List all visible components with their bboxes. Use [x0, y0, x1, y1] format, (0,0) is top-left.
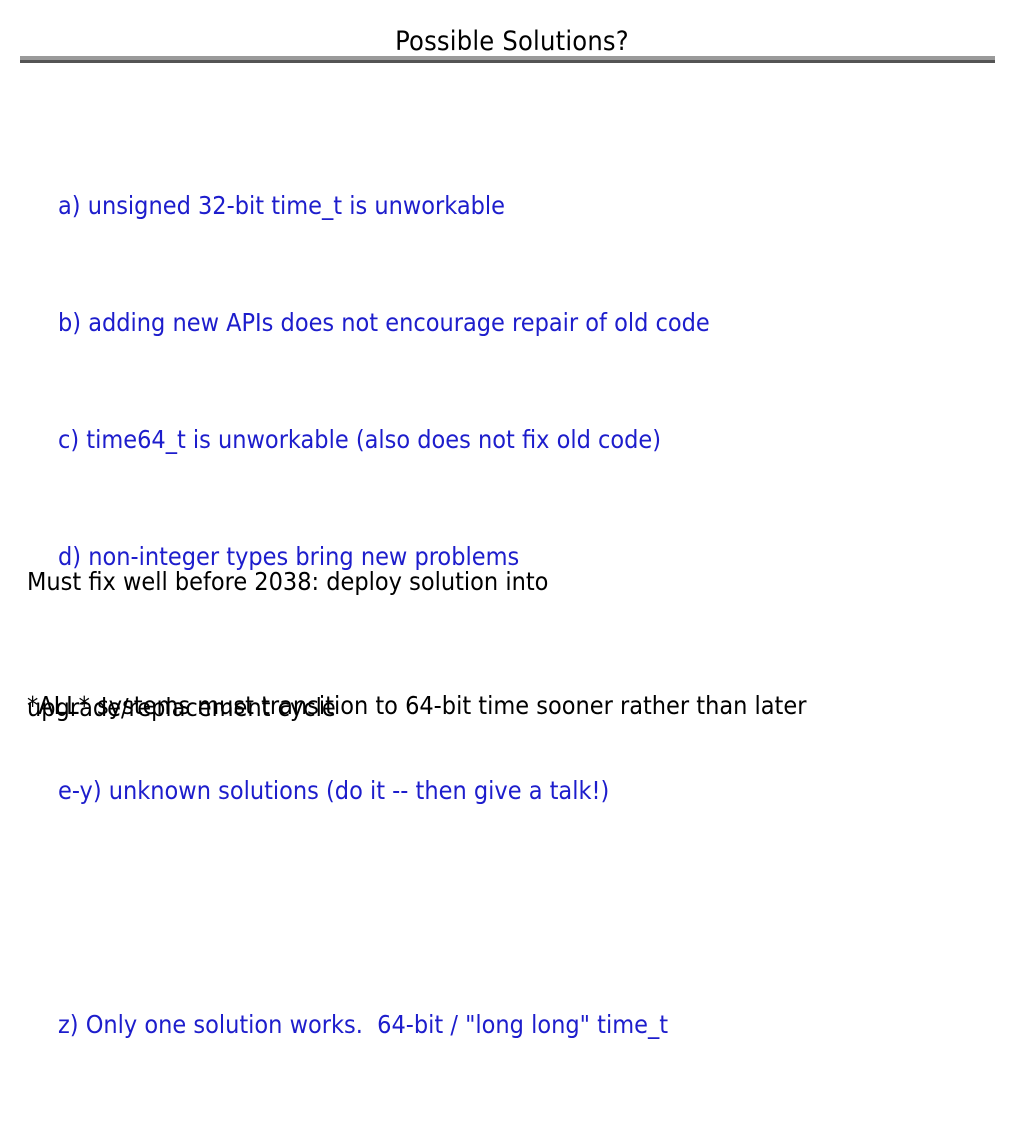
- body-paragraph-2: *ALL* systems must transition to 64-bit …: [27, 601, 1007, 811]
- slide-content: a) unsigned 32-bit time_t is unworkable …: [0, 0, 1024, 768]
- bullet-spacer-2: [58, 888, 958, 927]
- bullet-b: b) adding new APIs does not encourage re…: [58, 303, 958, 342]
- bullet-a: a) unsigned 32-bit time_t is unworkable: [58, 186, 958, 225]
- presentation-slide: Possible Solutions? a) unsigned 32-bit t…: [0, 0, 1024, 768]
- bullet-z: z) Only one solution works. 64-bit / "lo…: [58, 1005, 958, 1044]
- bullet-c: c) time64_t is unworkable (also does not…: [58, 420, 958, 459]
- body-paragraph-1-line-1: Must fix well before 2038: deploy soluti…: [27, 561, 1007, 603]
- body-paragraph-2-line-1: *ALL* systems must transition to 64-bit …: [27, 685, 1007, 727]
